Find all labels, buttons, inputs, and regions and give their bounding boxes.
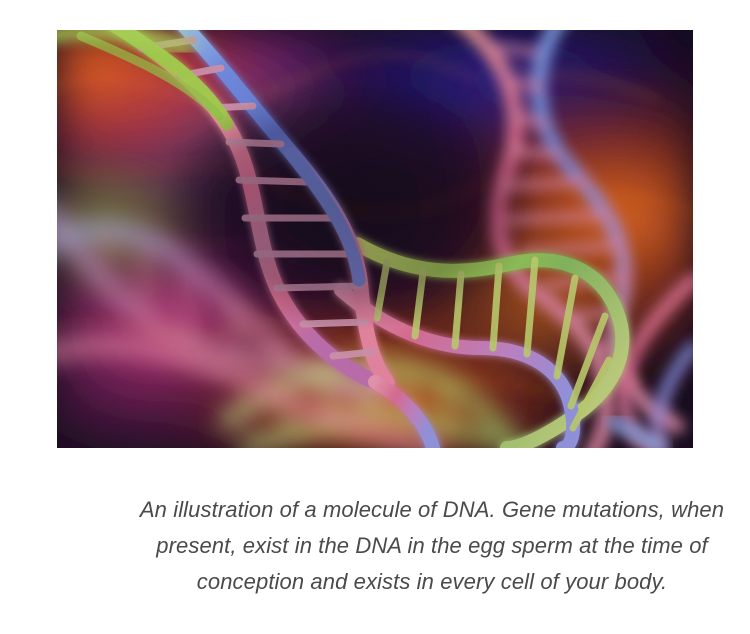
dna-helix-svg (57, 30, 693, 448)
figure-dna: An illustration of a molecule of DNA. Ge… (57, 30, 693, 448)
vignette (57, 30, 693, 448)
figure-caption: An illustration of a molecule of DNA. Ge… (114, 492, 750, 600)
dna-illustration-image (57, 30, 693, 448)
page-root: An illustration of a molecule of DNA. Ge… (0, 0, 750, 634)
